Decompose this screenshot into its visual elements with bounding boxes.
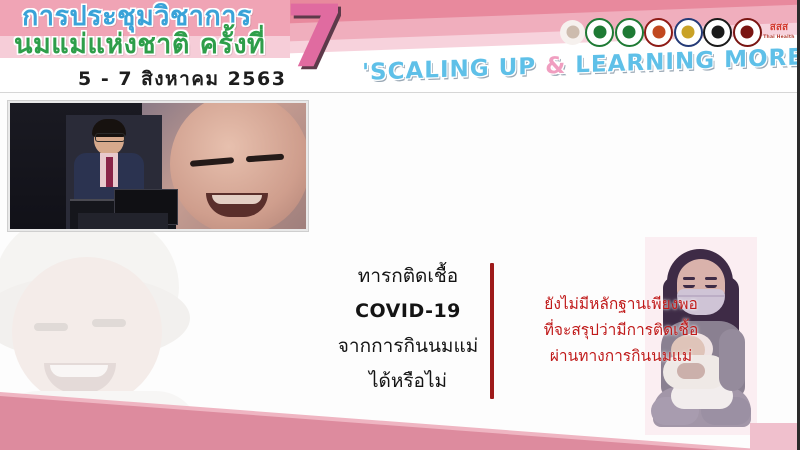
answer-line-2: ที่จะสรุปว่ามีการติดเชื้อ [502, 317, 740, 343]
sponsor-logo-label: สสส [770, 22, 788, 33]
question-line-2: COVID-19 [328, 294, 488, 329]
answer-line-3: ผ่านทางการกินนมแม่ [502, 343, 740, 369]
conference-date: 5 - 7 สิงหาคม 2563 [78, 64, 286, 92]
nursing-council-logo [703, 18, 732, 47]
thai-breastfeeding-center-logo [644, 18, 673, 47]
slide-question-text: ทารกติดเชื้อ COVID-19 จากการกินนมแม่ ได้… [328, 259, 488, 399]
conference-title-line2: นมแม่แห่งชาติ ครั้งที่ [14, 30, 265, 60]
slide-body: ทารกติดเชื้อ COVID-19 จากการกินนมแม่ ได้… [0, 92, 800, 450]
presentation-slide: การประชุมวิชาการ นมแม่แห่งชาติ ครั้งที่ … [0, 0, 800, 450]
sponsor-logo-sub: Thai Health [762, 33, 796, 43]
slide-answer-text: ยังไม่มีหลักฐานเพียงพอ ที่จะสรุปว่ามีการ… [502, 291, 740, 369]
ministry-of-public-health-logo [585, 18, 614, 47]
conference-title-line1: การประชุมวิชาการ [22, 2, 252, 32]
question-line-3: จากการกินนมแม่ [328, 329, 488, 364]
national-health-security-logo [733, 18, 762, 47]
conference-header-banner: การประชุมวิชาการ นมแม่แห่งชาติ ครั้งที่ … [0, 0, 800, 92]
question-line-4: ได้หรือไม่ [328, 364, 488, 399]
answer-line-1: ยังไม่มีหลักฐานเพียงพอ [502, 291, 740, 317]
pediatric-society-logo [674, 18, 703, 47]
thai-health-promotion-foundation-logo: สสส Thai Health [762, 20, 796, 45]
red-vertical-divider [490, 263, 494, 399]
bottom-ribbon-highlight [750, 423, 800, 450]
department-of-health-logo [615, 18, 644, 47]
presenter-video-thumbnail[interactable] [8, 101, 308, 231]
conference-edition-number: 7 [285, 0, 345, 80]
question-line-1: ทารกติดเชื้อ [328, 259, 488, 294]
theme-ampersand: & [545, 53, 566, 80]
sponsor-logo-row: สสส Thai Health [560, 17, 796, 47]
royal-emblem-logo [560, 20, 585, 45]
